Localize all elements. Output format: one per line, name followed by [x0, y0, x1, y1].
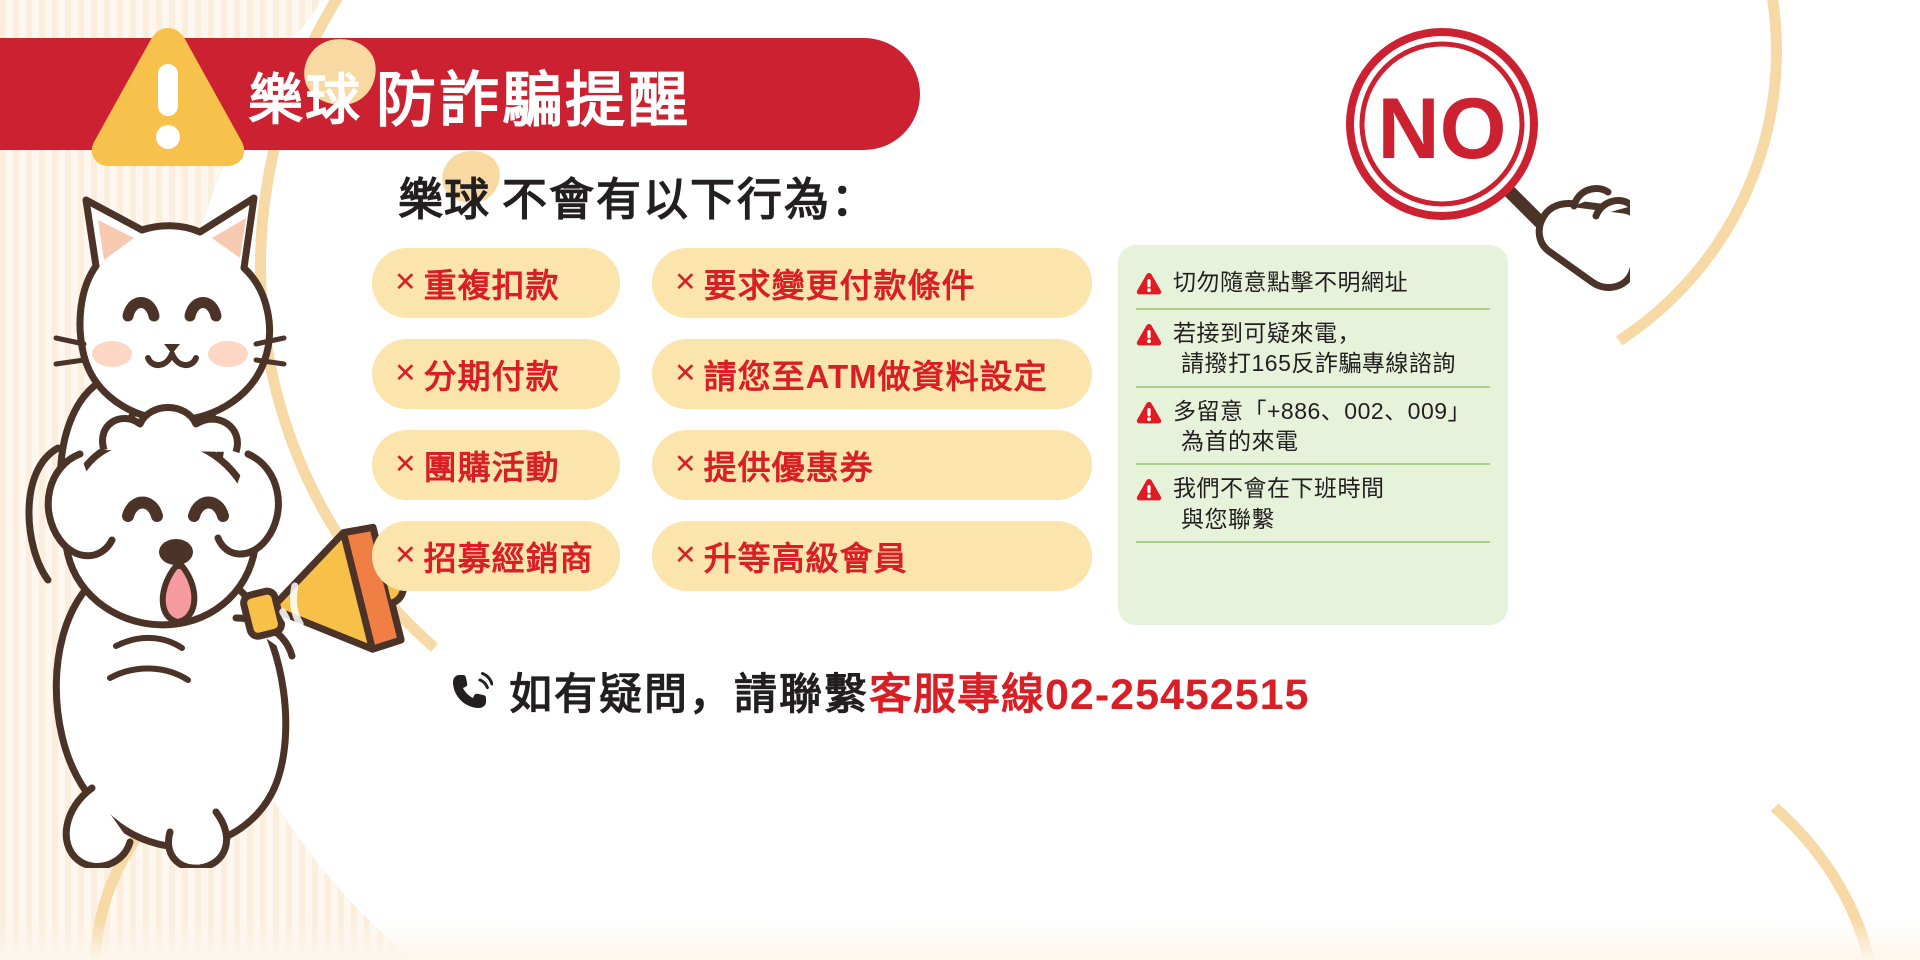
forbidden-item-label: 升等高級會員 [704, 532, 908, 580]
cross-icon: ✕ [674, 451, 697, 478]
cross-icon: ✕ [394, 269, 417, 296]
forbidden-item: ✕ 招募經銷商 [372, 521, 620, 591]
forbidden-item: ✕ 升等高級會員 [652, 521, 1092, 591]
alert-triangle-icon [1136, 323, 1162, 352]
notice-line-1: 多留意「+886、002、009」 [1173, 398, 1471, 424]
forbidden-item: ✕ 團購活動 [372, 430, 620, 500]
magnifier-icon: NO [1330, 20, 1630, 325]
background-bottom-fade [0, 920, 1920, 960]
subtitle-brand: 樂球 [398, 163, 490, 228]
alert-triangle-icon [1136, 401, 1162, 430]
forbidden-item-label: 招募經銷商 [424, 532, 594, 580]
contact-text: 如有疑問，請聯繫 [509, 660, 869, 722]
notice-line-2: 與您聯繫 [1173, 504, 1385, 534]
page-title: 樂球 防詐騙提醒 [248, 53, 691, 137]
cross-icon: ✕ [394, 360, 417, 387]
forbidden-item-label: 要求變更付款條件 [704, 259, 976, 307]
notice-item: 我們不會在下班時間 與您聯繫 [1136, 465, 1490, 543]
forbidden-item-label: 分期付款 [424, 350, 560, 398]
forbidden-item-label: 重複扣款 [424, 259, 560, 307]
forbidden-item: ✕ 重複扣款 [372, 248, 620, 318]
forbidden-item: ✕ 請您至ATM做資料設定 [652, 339, 1092, 409]
notice-item-text: 若接到可疑來電， 請撥打165反詐騙專線諮詢 [1173, 318, 1456, 379]
forbidden-item: ✕ 要求變更付款條件 [652, 248, 1092, 318]
forbidden-item: ✕ 分期付款 [372, 339, 620, 409]
cross-icon: ✕ [674, 542, 697, 569]
forbidden-item: ✕ 提供優惠券 [652, 430, 1092, 500]
cross-icon: ✕ [674, 360, 697, 387]
header-brand-label: 樂球 [248, 69, 362, 131]
cross-icon: ✕ [394, 451, 417, 478]
header-brand: 樂球 [248, 55, 362, 135]
forbidden-actions-grid: ✕ 重複扣款 ✕ 要求變更付款條件 ✕ 分期付款 ✕ 請您至ATM做資料設定 ✕… [372, 248, 1092, 591]
subtitle: 樂球 不會有以下行為： [398, 163, 878, 228]
notice-line-2: 請撥打165反詐騙專線諮詢 [1173, 348, 1456, 378]
notice-item-text: 我們不會在下班時間 與您聯繫 [1173, 473, 1385, 534]
cross-icon: ✕ [394, 542, 417, 569]
poster-root: 樂球 防詐騙提醒 NO 樂球 不會有以下行為： ✕ [0, 0, 1920, 960]
subtitle-text: 不會有以下行為： [502, 163, 878, 228]
forbidden-item-label: 請您至ATM做資料設定 [704, 350, 1048, 398]
alert-triangle-icon [1136, 272, 1162, 301]
notice-line-1: 我們不會在下班時間 [1173, 475, 1385, 501]
notice-line-2: 為首的來電 [1173, 426, 1471, 456]
forbidden-item-label: 團購活動 [424, 441, 560, 489]
subtitle-brand-label: 樂球 [398, 174, 490, 225]
contact-hotline: 客服專線02-25452515 [869, 660, 1309, 722]
forbidden-item-label: 提供優惠券 [704, 441, 874, 489]
alert-triangle-icon [1136, 478, 1162, 507]
header-title-label: 防詐騙提醒 [376, 52, 691, 139]
cross-icon: ✕ [674, 269, 697, 296]
no-stamp-text: NO [1378, 81, 1507, 177]
notice-item-text: 多留意「+886、002、009」 為首的來電 [1173, 396, 1471, 457]
notice-item: 多留意「+886、002、009」 為首的來電 [1136, 388, 1490, 466]
warning-triangle-icon [88, 22, 248, 172]
contact-line: 如有疑問，請聯繫 客服專線02-25452515 [447, 660, 1309, 722]
phone-icon [447, 668, 493, 714]
